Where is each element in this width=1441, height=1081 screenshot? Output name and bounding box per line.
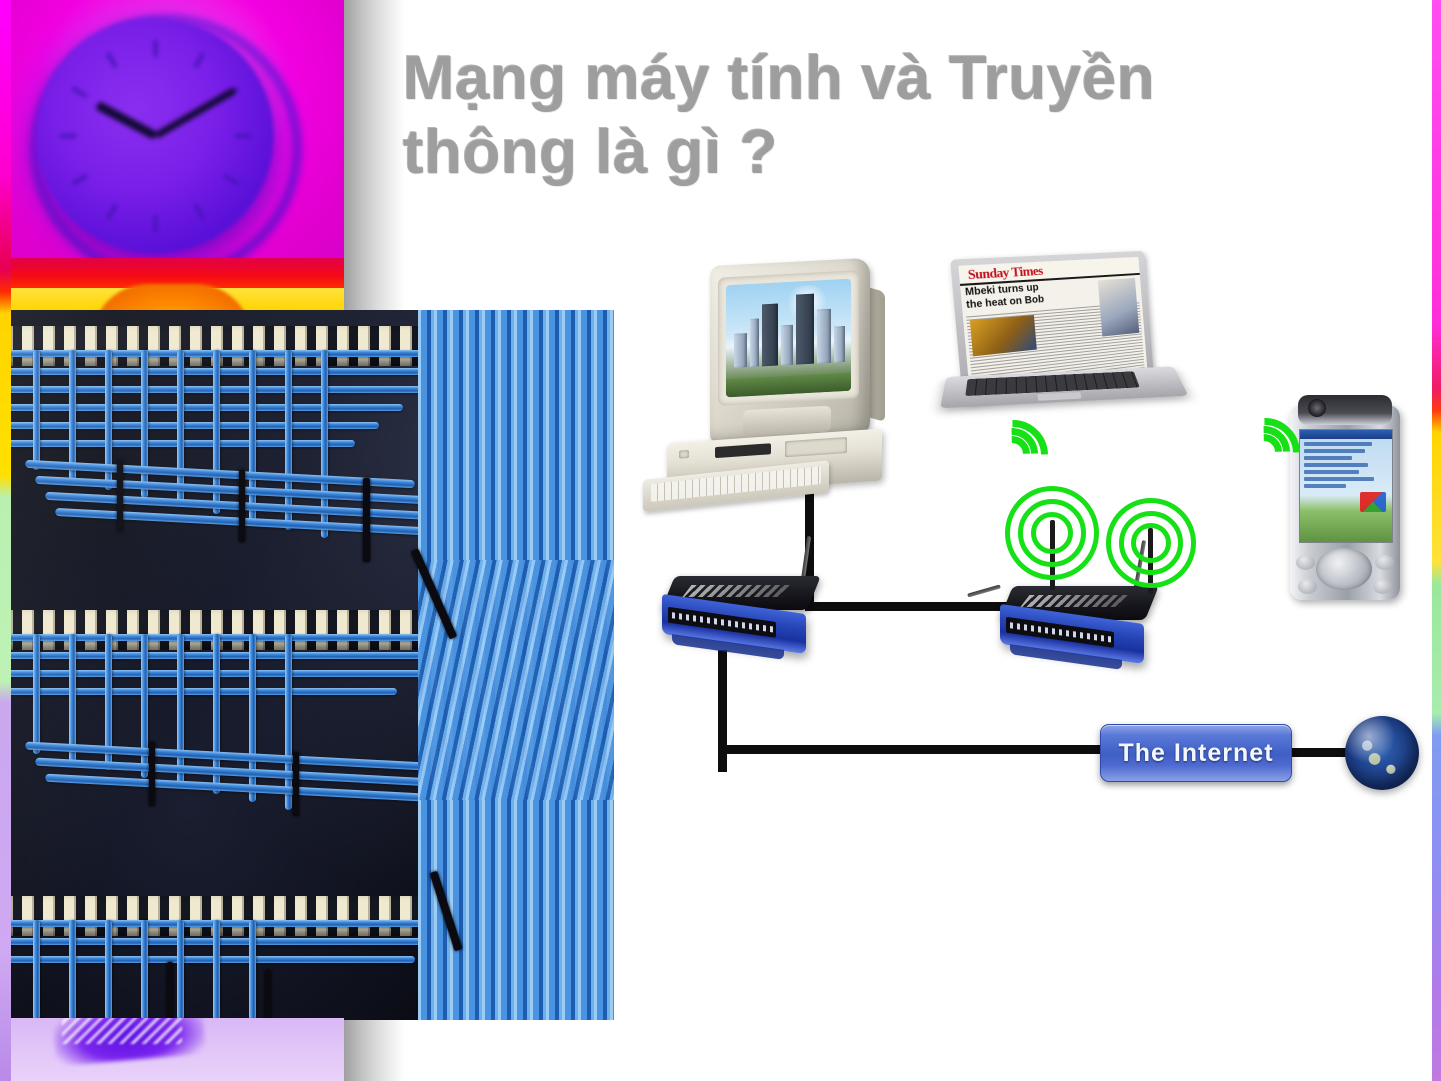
globe-icon [1345,716,1419,790]
left-rainbow-stripe [0,0,11,1081]
slide-canvas: Mạng máy tính và Truyền thông là gì ? [0,0,1441,1081]
network-topology-diagram: Sunday Times Mbeki turns up the heat on … [600,250,1441,830]
router-wired-icon [662,570,820,658]
newspaper-masthead: Sunday Times [967,263,1043,284]
wifi-arcs-laptop-icon [978,420,1040,482]
desktop-computer-icon [625,258,887,513]
page-title-line-1: Mạng máy tính và Truyền [403,42,1283,116]
clock-photo-bottom-remnant [0,1018,344,1081]
internet-button[interactable]: The Internet [1100,724,1292,782]
page-title-line-2: thông là gì ? [403,116,1283,190]
internet-button-label: The Internet [1118,739,1273,768]
pda-screen [1299,429,1393,543]
pda-icon [1290,405,1400,600]
laptop-icon: Sunday Times Mbeki turns up the heat on … [945,255,1193,420]
wifi-arcs-pda-icon [1230,418,1292,480]
wifi-rings-right-icon [1108,500,1194,586]
page-title: Mạng máy tính và Truyền thông là gì ? [403,42,1283,190]
clock-face [36,18,274,254]
desktop-screen [726,279,851,398]
router-wireless-icon [1000,580,1158,668]
wire-router1-to-internet [718,745,1110,754]
wifi-rings-left-icon [1009,490,1095,576]
network-cable-photo [7,310,614,1020]
clock-photo [0,0,344,312]
